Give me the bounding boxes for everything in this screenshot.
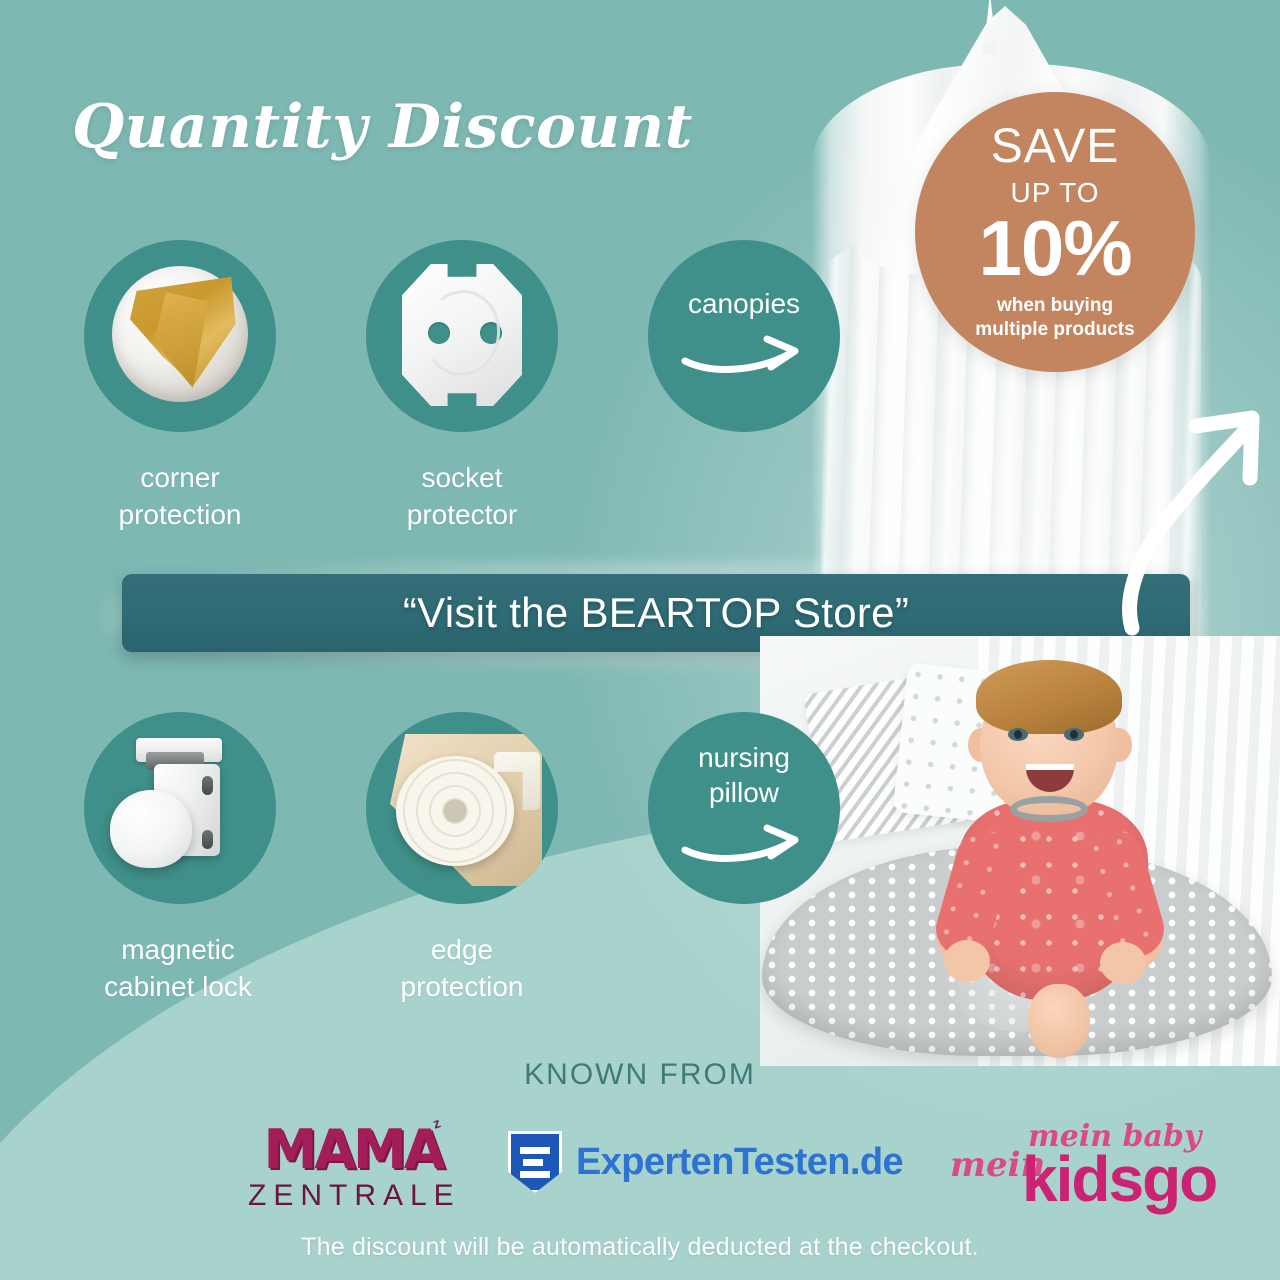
logo-kidsgo-wordmark: kidsgo (1022, 1147, 1216, 1211)
baby-eye-left (1008, 728, 1028, 741)
product-label-line1: edge (332, 932, 592, 969)
lock-screw-bottom (202, 830, 213, 849)
save-badge-subtext-line1: when buying (975, 294, 1134, 317)
lock-magnetic-key (110, 790, 192, 868)
shield-bar-1 (520, 1147, 550, 1154)
logo-experten-testen-text: ExpertenTesten.de (576, 1141, 903, 1184)
baby-hair (976, 660, 1122, 734)
curved-arrow-right-icon (679, 333, 809, 387)
baby-hand-right (1100, 942, 1146, 984)
shield-bar-3 (520, 1171, 550, 1178)
product-circle-magnetic-cabinet-lock[interactable] (84, 712, 276, 904)
save-badge-subtext: when buying multiple products (975, 294, 1134, 340)
baby-foot (1028, 984, 1090, 1058)
save-badge-line1: SAVE (991, 123, 1120, 171)
product-circle-corner-protection[interactable] (84, 240, 276, 432)
baby-collar (1010, 796, 1088, 822)
save-badge-amount: 10% (978, 209, 1131, 287)
baby-figure (924, 654, 1174, 1054)
baby-hand-left (944, 940, 990, 982)
lock-screw-top (202, 776, 213, 795)
callout-label-nursing: nursing (698, 740, 790, 775)
shield-icon (508, 1131, 562, 1193)
product-label-socket-protector: socket protector (332, 460, 592, 534)
visit-store-banner-label: “Visit the BEARTOP Store” (403, 589, 909, 637)
product-label-corner-protection: corner protection (50, 460, 310, 534)
product-label-line2: protection (50, 497, 310, 534)
product-circle-edge-protection[interactable] (366, 712, 558, 904)
product-label-line1: corner (50, 460, 310, 497)
save-badge-subtext-line2: multiple products (975, 318, 1134, 341)
product-label-line1: socket (332, 460, 592, 497)
nursing-pillow-photo (760, 636, 1280, 1066)
curved-arrow-right-icon (679, 822, 809, 876)
known-from-logos: MAMA z ZENTRALE ExpertenTesten.de mein b… (0, 1115, 1280, 1235)
logo-mama-zentrale: MAMA z ZENTRALE (248, 1123, 458, 1233)
logo-mama-word: MAMA (248, 1123, 458, 1177)
infographic-canvas: Quantity Discount SAVE UP TO 10% when bu… (0, 0, 1280, 1280)
logo-mama-subtitle: ZENTRALE (248, 1179, 458, 1213)
product-label-magnetic-cabinet-lock: magnetic cabinet lock (48, 932, 308, 1006)
baby-eye-right (1064, 728, 1084, 741)
product-label-line1: magnetic (48, 932, 308, 969)
discount-footnote: The discount will be automatically deduc… (0, 1233, 1280, 1262)
product-label-line2: protection (332, 969, 592, 1006)
product-label-edge-protection: edge protection (332, 932, 592, 1006)
callout-circle-canopies[interactable]: canopies (648, 240, 840, 432)
logo-experten-testen: ExpertenTesten.de (508, 1131, 903, 1193)
logo-kidsgo: mein baby mein kidsgo (950, 1115, 1230, 1233)
known-from-heading: KNOWN FROM (0, 1058, 1280, 1092)
page-title: Quantity Discount (72, 92, 693, 162)
product-circle-socket-protector[interactable] (366, 240, 558, 432)
callout-label-canopies: canopies (688, 286, 800, 321)
product-label-line2: protector (332, 497, 592, 534)
save-badge: SAVE UP TO 10% when buying multiple prod… (915, 92, 1195, 372)
shield-bar-2 (523, 1159, 543, 1166)
callout-circle-nursing-pillow[interactable]: nursing pillow (648, 712, 840, 904)
save-badge-line2: UP TO (1010, 179, 1099, 207)
edge-protection-icon (396, 756, 514, 866)
callout-label-pillow: pillow (709, 775, 779, 810)
product-label-line2: cabinet lock (48, 969, 308, 1006)
